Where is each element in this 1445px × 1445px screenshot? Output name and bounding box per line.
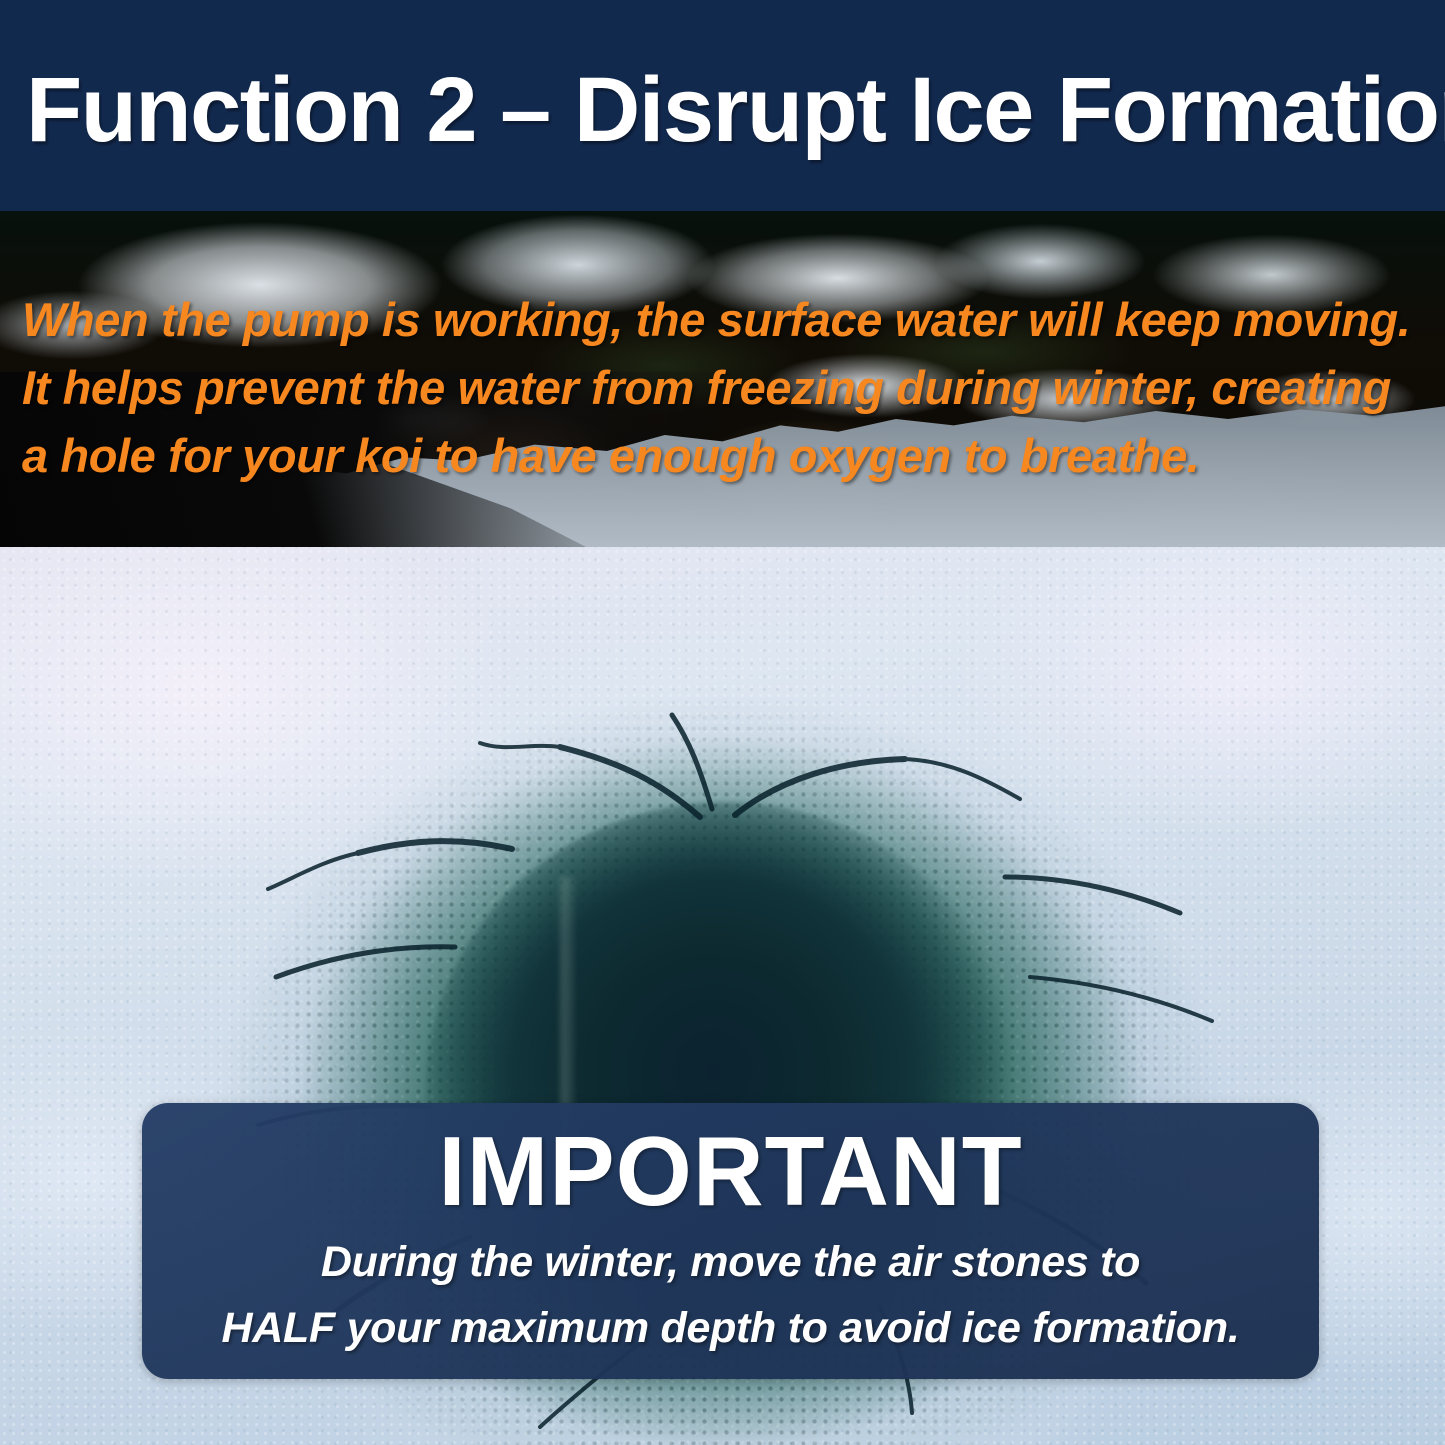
page-title: Function 2 – Disrupt Ice Formation xyxy=(26,60,1419,160)
description-line-2: It helps prevent the water from freezing… xyxy=(22,354,1422,422)
product-infographic: Function 2 – Disrupt Ice Formation When … xyxy=(0,0,1445,1445)
important-title: IMPORTANT xyxy=(142,1119,1319,1223)
description-line-3: a hole for your koi to have enough oxyge… xyxy=(22,422,1422,490)
important-line-2: HALF your maximum depth to avoid ice for… xyxy=(142,1302,1319,1354)
description-text: When the pump is working, the surface wa… xyxy=(22,286,1422,490)
header-band: Function 2 – Disrupt Ice Formation xyxy=(0,0,1445,211)
important-callout-box: IMPORTANT During the winter, move the ai… xyxy=(142,1103,1319,1379)
description-line-1: When the pump is working, the surface wa… xyxy=(22,286,1422,354)
snowy-rocks-photo: When the pump is working, the surface wa… xyxy=(0,211,1445,547)
important-line-1: During the winter, move the air stones t… xyxy=(142,1236,1319,1288)
